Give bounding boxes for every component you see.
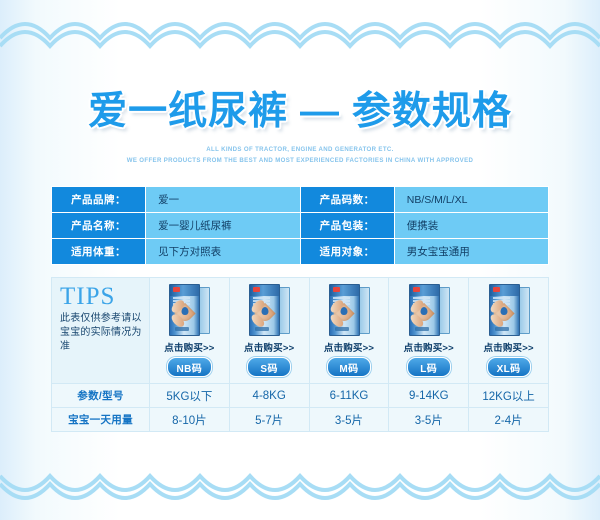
buy-link[interactable]: 点击购买>>	[232, 340, 307, 354]
product-cell-xl[interactable]: 点击购买>> XL码	[469, 278, 549, 384]
product-row: TIPS 此表仅供参考请以宝宝的实际情况为准 点击购买>> NB码	[52, 278, 549, 384]
spec-value: 男女宝宝通用	[395, 239, 548, 264]
size-chart-table: TIPS 此表仅供参考请以宝宝的实际情况为准 点击购买>> NB码	[51, 277, 549, 432]
title-block: 爱一纸尿裤 — 参数规格 ALL KINDS OF TRACTOR, ENGIN…	[0, 90, 600, 166]
size-badge[interactable]: S码	[247, 357, 291, 377]
spec-label: 适用对象：	[301, 239, 394, 264]
spec-value: 见下方对照表	[146, 239, 299, 264]
tips-cell: TIPS 此表仅供参考请以宝宝的实际情况为准	[52, 278, 150, 384]
product-cell-s[interactable]: 点击购买>> S码	[229, 278, 309, 384]
spec-label: 产品名称：	[52, 213, 145, 238]
table-cell: 9-14KG	[389, 384, 469, 408]
table-cell: 3-5片	[309, 408, 389, 432]
spec-value: 便携装	[395, 213, 548, 238]
table-row: 适用体重： 见下方对照表 适用对象： 男女宝宝通用	[52, 239, 548, 264]
subtitle-line-1: ALL KINDS OF TRACTOR, ENGINE AND GENERAT…	[0, 144, 600, 155]
spec-label: 产品品牌：	[52, 187, 145, 212]
table-row: 产品品牌： 爱一 产品码数： NB/S/M/L/XL	[52, 187, 548, 212]
table-cell: 5-7片	[229, 408, 309, 432]
table-row: 产品名称： 爱一婴儿纸尿裤 产品包装： 便携装	[52, 213, 548, 238]
diaper-package-icon	[167, 284, 211, 337]
row-label: 宝宝一天用量	[52, 408, 150, 432]
wave-top-decoration	[0, 8, 600, 54]
table-cell: 8-10片	[149, 408, 229, 432]
table-cell: 6-11KG	[309, 384, 389, 408]
diaper-package-icon	[487, 284, 531, 337]
size-badge[interactable]: XL码	[487, 357, 531, 377]
spec-label: 产品包装：	[301, 213, 394, 238]
page-root: 爱一纸尿裤 — 参数规格 ALL KINDS OF TRACTOR, ENGIN…	[0, 0, 600, 520]
row-label: 参数/型号	[52, 384, 150, 408]
spec-value: 爱一	[146, 187, 299, 212]
product-cell-l[interactable]: 点击购买>> L码	[389, 278, 469, 384]
spec-label: 适用体重：	[52, 239, 145, 264]
buy-link[interactable]: 点击购买>>	[471, 340, 546, 354]
spec-value: NB/S/M/L/XL	[395, 187, 548, 212]
diaper-package-icon	[327, 284, 371, 337]
buy-link[interactable]: 点击购买>>	[152, 340, 227, 354]
spec-label: 产品码数：	[301, 187, 394, 212]
table-cell: 5KG以下	[149, 384, 229, 408]
buy-link[interactable]: 点击购买>>	[391, 340, 466, 354]
product-cell-nb[interactable]: 点击购买>> NB码	[149, 278, 229, 384]
table-cell: 2-4片	[469, 408, 549, 432]
diaper-package-icon	[247, 284, 291, 337]
table-cell: 3-5片	[389, 408, 469, 432]
buy-link[interactable]: 点击购买>>	[312, 340, 387, 354]
table-cell: 12KG以上	[469, 384, 549, 408]
wave-bottom-decoration	[0, 468, 600, 514]
table-cell: 4-8KG	[229, 384, 309, 408]
tips-heading: TIPS	[60, 284, 143, 309]
spec-value: 爱一婴儿纸尿裤	[146, 213, 299, 238]
table-row-daily-usage: 宝宝一天用量 8-10片 5-7片 3-5片 3-5片 2-4片	[52, 408, 549, 432]
subtitle-line-2: WE OFFER PRODUCTS FROM THE BEST AND MOST…	[0, 155, 600, 166]
tips-text: 此表仅供参考请以宝宝的实际情况为准	[60, 312, 142, 353]
product-cell-m[interactable]: 点击购买>> M码	[309, 278, 389, 384]
spec-table: 产品品牌： 爱一 产品码数： NB/S/M/L/XL 产品名称： 爱一婴儿纸尿裤…	[51, 186, 549, 265]
page-title: 爱一纸尿裤 — 参数规格	[0, 90, 600, 135]
size-badge[interactable]: M码	[327, 357, 371, 377]
size-badge[interactable]: NB码	[167, 357, 213, 377]
size-badge[interactable]: L码	[407, 357, 451, 377]
diaper-package-icon	[407, 284, 451, 337]
table-row-weight: 参数/型号 5KG以下 4-8KG 6-11KG 9-14KG 12KG以上	[52, 384, 549, 408]
